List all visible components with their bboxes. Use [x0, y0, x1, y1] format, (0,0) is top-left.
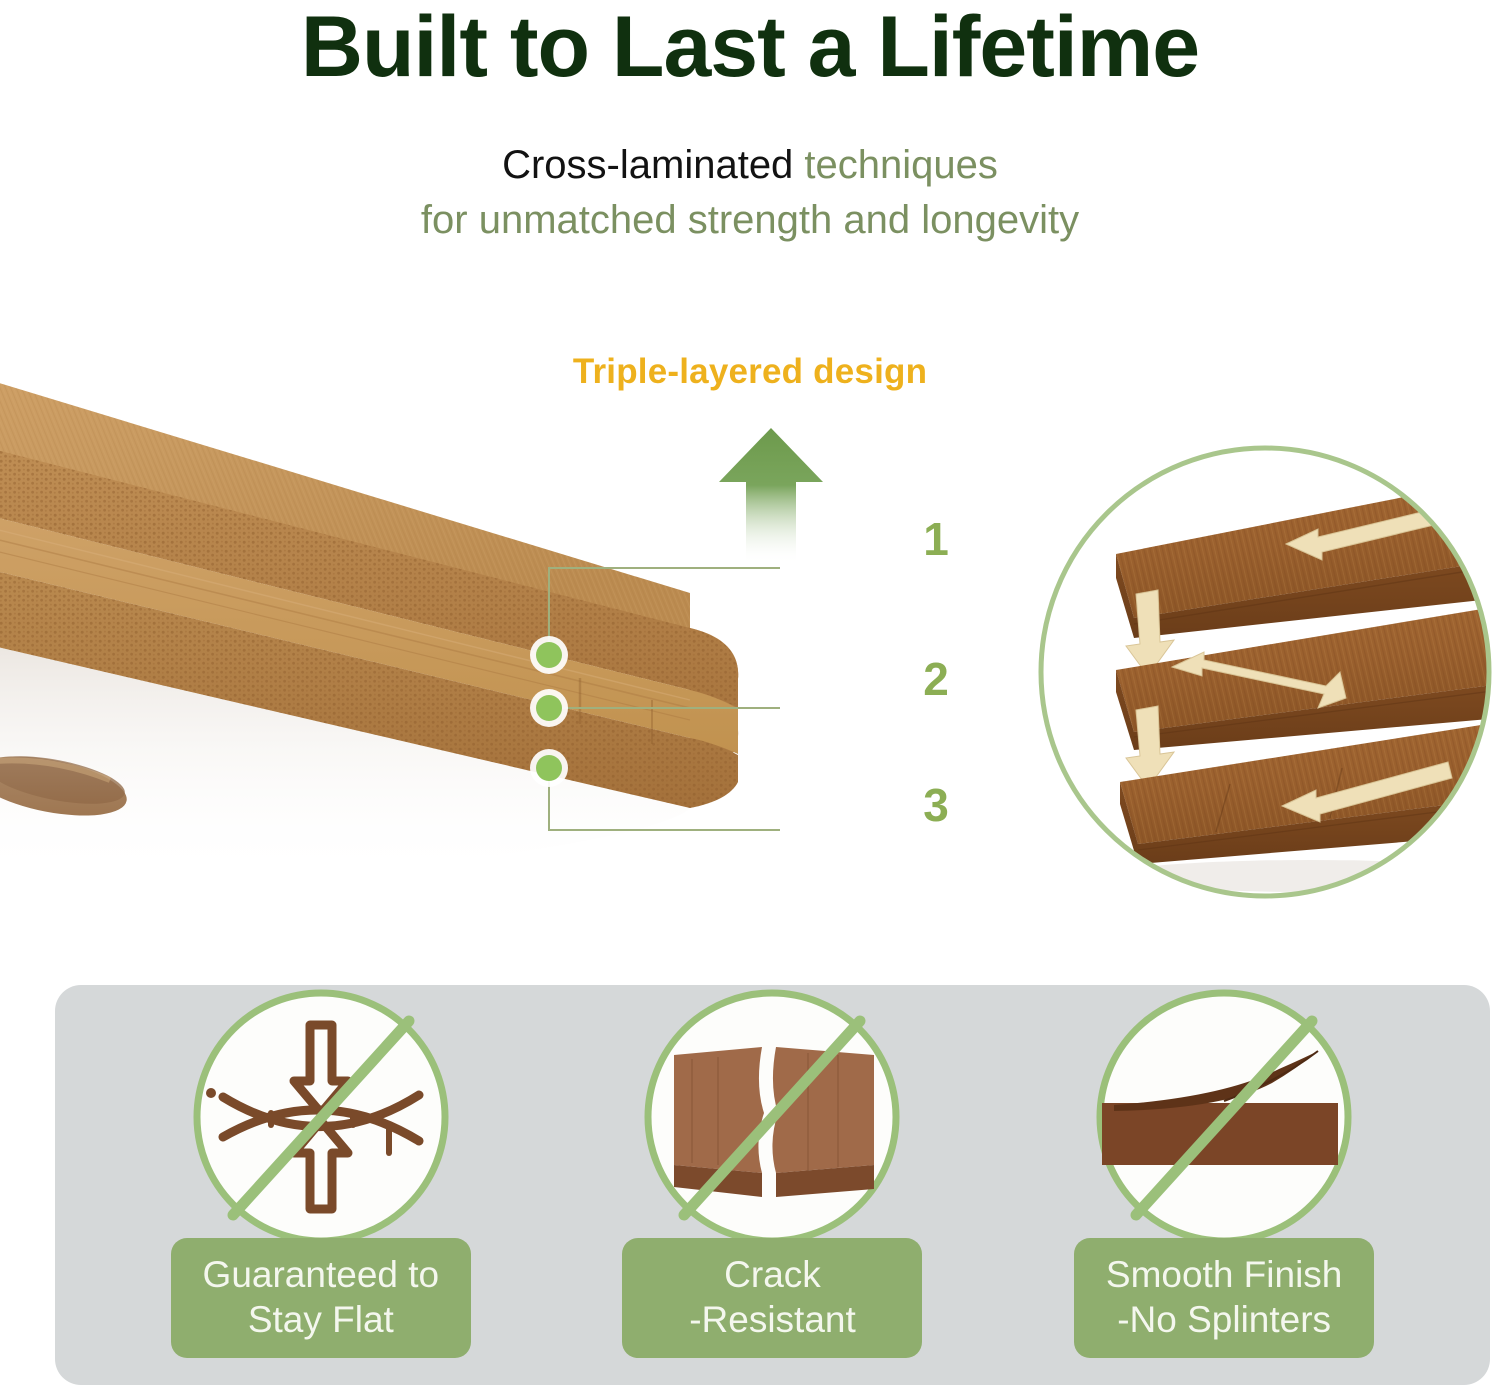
feature-label-smooth-finish: Smooth Finish -No Splinters	[1074, 1238, 1374, 1358]
callout-number-3: 3	[906, 778, 966, 832]
subtitle-emphasis: Cross-laminated	[502, 143, 804, 187]
subtitle-techniques: techniques	[804, 143, 997, 187]
callout-number-1: 1	[906, 512, 966, 566]
feature-label-crack-resistant: Crack -Resistant	[622, 1238, 922, 1358]
feature-label-stay-flat: Guaranteed to Stay Flat	[171, 1238, 471, 1358]
page-title: Built to Last a Lifetime	[0, 0, 1500, 92]
exploded-layers-diagram	[1030, 432, 1500, 912]
features-row: Guaranteed to Stay Flat Crack -	[55, 985, 1490, 1385]
callout-number-2: 2	[906, 652, 966, 706]
page-subtitle: Cross-laminated techniques for unmatched…	[0, 138, 1500, 248]
bamboo-cutting-board	[0, 378, 780, 918]
feature-card-stay-flat: Guaranteed to Stay Flat	[156, 985, 486, 1358]
no-warping-icon	[171, 985, 471, 1250]
feature-card-crack-resistant: Crack -Resistant	[607, 985, 937, 1358]
headline-block: Built to Last a Lifetime Cross-laminated…	[0, 0, 1500, 249]
no-splinters-icon	[1074, 985, 1374, 1250]
subtitle-line-2: for unmatched strength and longevity	[0, 193, 1500, 248]
feature-card-smooth-finish: Smooth Finish -No Splinters	[1059, 985, 1389, 1358]
no-crack-icon	[622, 985, 922, 1250]
